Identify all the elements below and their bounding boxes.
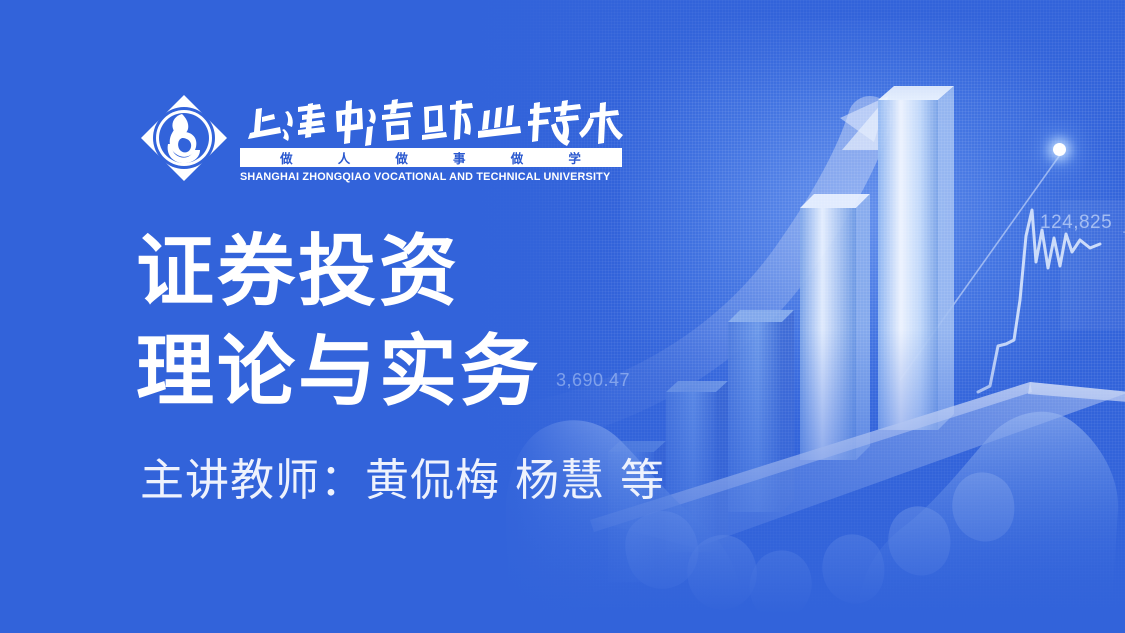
stock-sparkline-icon: [978, 210, 1100, 392]
motto-char-5: 做: [511, 148, 525, 167]
presentation-title-slide: 124,825 .... 3,690.47 上海中侨职业技术大学: [0, 0, 1125, 633]
motto-char-2: 人: [338, 148, 352, 167]
chart-glow: [620, 20, 1125, 450]
motto-band: 做 人 做 事 做 学: [240, 148, 622, 167]
motto-char-1: 做: [280, 148, 294, 167]
instructor-subtitle: 主讲教师：黄侃梅 杨慧 等: [140, 451, 665, 511]
glow-point-icon: [1053, 143, 1066, 156]
title-line-1: 证券投资: [136, 222, 541, 322]
zhongqiao-diamond-emblem-icon: [138, 92, 230, 189]
ticker-high-value: 124,825: [1040, 212, 1112, 234]
title-line-2: 理论与实务: [136, 322, 541, 422]
university-logo: 上海中侨职业技术大学: [138, 92, 625, 189]
motto-char-6: 学: [568, 148, 582, 167]
page-title: 证券投资 理论与实务: [136, 222, 541, 422]
motto-char-4: 事: [453, 148, 467, 167]
university-name-cn: 上海中侨职业技术大学: [240, 99, 625, 147]
university-name-en: SHANGHAI ZHONGQIAO VOCATIONAL AND TECHNI…: [240, 171, 619, 183]
ticker-low-value: 3,690.47: [556, 370, 630, 391]
motto-char-3: 做: [395, 148, 409, 167]
logo-text-block: 上海中侨职业技术大学: [240, 99, 625, 183]
cupped-hands-icon: [506, 412, 1118, 633]
